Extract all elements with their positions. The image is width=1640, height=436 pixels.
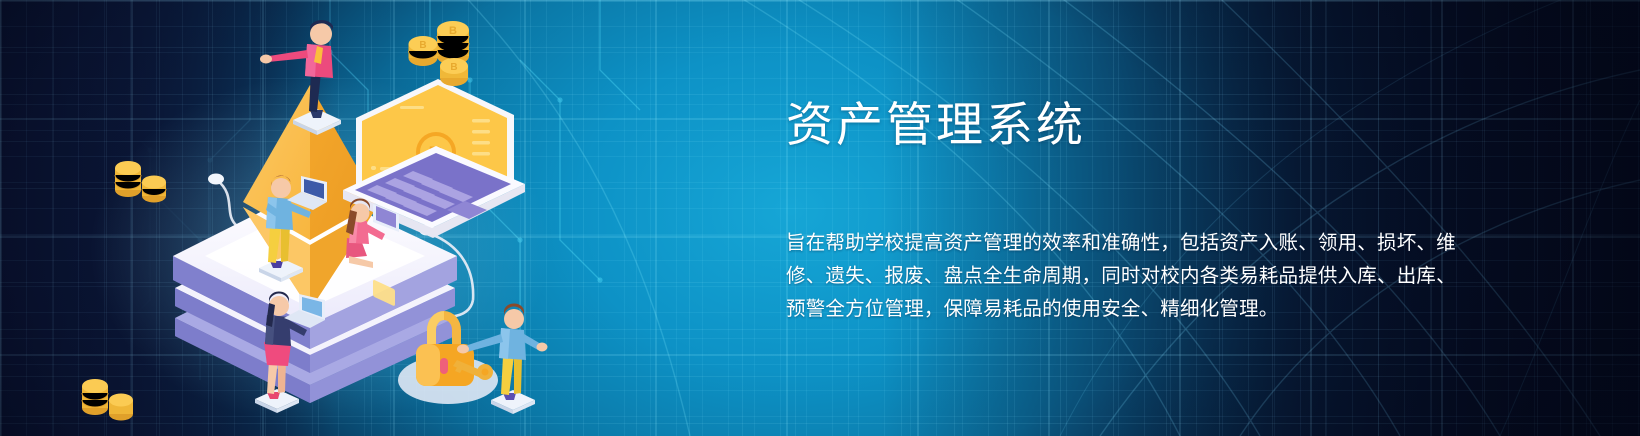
- illustration-container: B: [55, 0, 615, 436]
- svg-text:B: B: [419, 40, 426, 51]
- svg-text:B: B: [449, 25, 457, 37]
- banner-description: 旨在帮助学校提高资产管理的效率和准确性，包括资产入账、领用、损坏、维修、遗失、报…: [786, 227, 1464, 326]
- coin-stack-bottom: [82, 379, 133, 421]
- banner-copy: 资产管理系统 旨在帮助学校提高资产管理的效率和准确性，包括资产入账、领用、损坏、…: [786, 96, 1486, 326]
- page-title: 资产管理系统: [786, 96, 1486, 153]
- coin-stack-top: B B B: [409, 21, 470, 86]
- asset-management-banner: B: [0, 0, 1640, 436]
- svg-text:B: B: [450, 62, 457, 73]
